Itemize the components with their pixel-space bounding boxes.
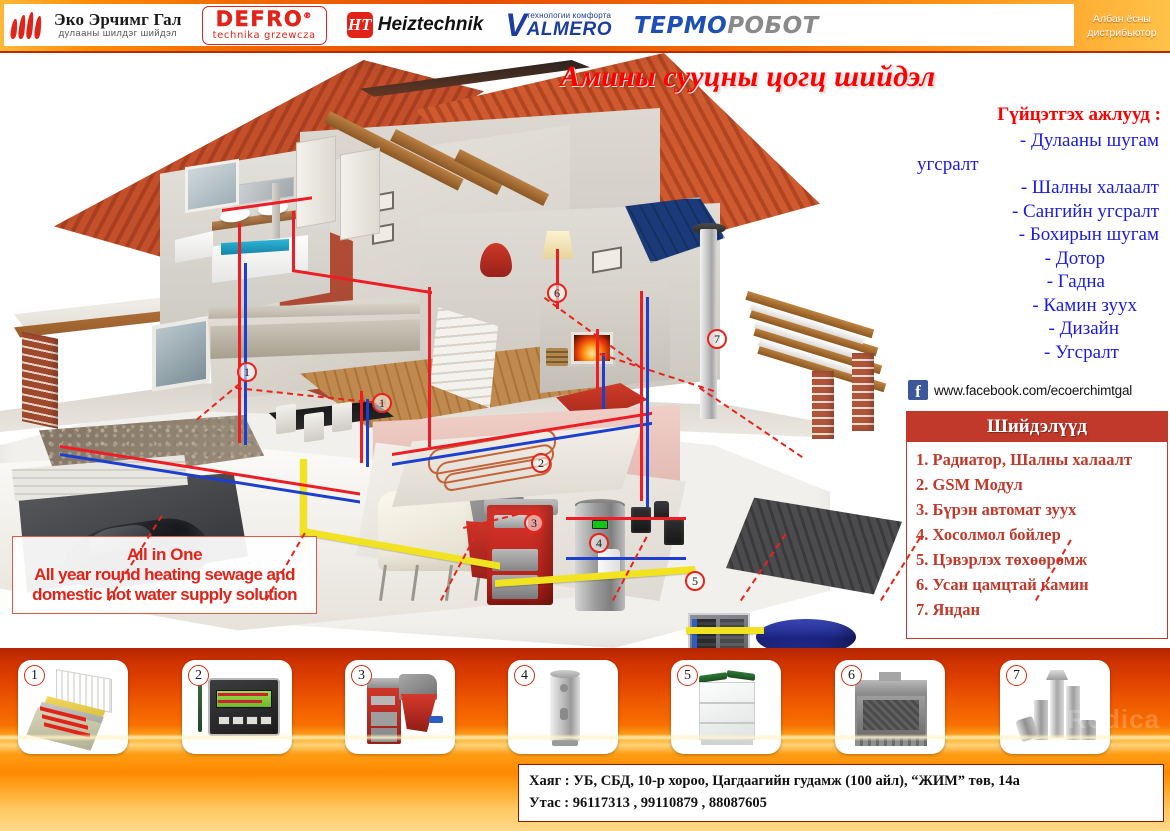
- dining-chair: [304, 412, 324, 443]
- heiztechnik-badge-icon: HT: [347, 12, 373, 38]
- termorobot-name-part1: ТЕРМО: [634, 13, 727, 39]
- eco-brand-name: Эко Эрчимг Гал: [54, 11, 182, 28]
- valmero-name: ALMERO: [527, 20, 612, 39]
- lower-window: [152, 316, 210, 391]
- works-item: - Дулааны шугам: [905, 129, 1167, 153]
- works-heading: Гүйцэтгэх ажлууд :: [905, 104, 1167, 126]
- product-card-number: 3: [351, 665, 372, 686]
- product-card-number: 5: [677, 665, 698, 686]
- solutions-item: 2. GSM Модул: [916, 472, 1167, 497]
- brick-column-left: [22, 331, 58, 429]
- poster-root: Эко Эрчимг Гал дулааны шилдэг шийдэл DEF…: [0, 0, 1170, 831]
- return-pipe-blue: [366, 399, 369, 467]
- product-card-number: 6: [841, 665, 862, 686]
- product-card-7[interactable]: 7: [1000, 660, 1110, 754]
- firewood-stack: [546, 348, 568, 366]
- pump-group-right: [664, 519, 684, 545]
- works-item: - Дизайн: [905, 317, 1167, 341]
- solutions-heading: Шийдэлүүд: [907, 412, 1167, 442]
- valmero-v-icon: V: [505, 12, 525, 39]
- supply-pipe-red: [238, 223, 241, 443]
- solutions-box: Шийдэлүүд 1. Радиатор, Шалны халаалт 2. …: [906, 411, 1168, 639]
- flame-icon: [10, 9, 48, 41]
- facebook-link[interactable]: f www.facebook.com/ecoerchimtgal: [908, 380, 1168, 400]
- works-item: - Шалны халаалт: [905, 176, 1167, 200]
- brand-eco-erchimt-gal: Эко Эрчимг Гал дулааны шилдэг шийдэл: [4, 4, 188, 46]
- house-callout-1-radiator: 1: [237, 362, 257, 382]
- supply-pipe-red: [640, 291, 643, 501]
- dining-chair: [332, 402, 352, 433]
- interior-door: [340, 147, 380, 240]
- brand-heiztechnik: HT Heiztechnik: [347, 12, 484, 38]
- all-in-one-line-2: All year round heating sewage and: [34, 565, 295, 585]
- riser-pipe: [272, 183, 280, 247]
- house-callout-2-gsm: 2: [531, 453, 551, 473]
- facebook-url[interactable]: www.facebook.com/ecoerchimtgal: [934, 383, 1132, 398]
- works-item: - Бохирын шугам: [905, 223, 1167, 247]
- distributor-line-1: Албан ёсны: [1093, 13, 1151, 26]
- interior-door: [296, 135, 336, 228]
- house-callout-3-boiler: 3: [524, 513, 544, 533]
- house-callout-4-buffer: 4: [589, 533, 609, 553]
- supply-pipe-red: [292, 211, 295, 271]
- house-callout-5-treatment: 5: [685, 571, 705, 591]
- sewer-pipe: [686, 627, 764, 634]
- heiztechnik-name: Heiztechnik: [378, 14, 484, 36]
- pergola-brick-post: [812, 371, 834, 439]
- house-callout-1-underfloor: 1: [372, 393, 392, 413]
- solutions-item: 3. Бүрэн автомат зуух: [916, 497, 1167, 522]
- works-item: - Дотор: [905, 247, 1167, 271]
- facebook-icon[interactable]: f: [908, 380, 928, 400]
- house-callout-7-chimney: 7: [707, 329, 727, 349]
- product-card-6[interactable]: 6: [835, 660, 945, 754]
- dining-chair: [276, 404, 296, 435]
- defro-name: DEFRO®: [213, 9, 316, 30]
- solutions-item: 7. Яндан: [916, 597, 1167, 622]
- product-card-number: 2: [188, 665, 209, 686]
- works-item: - Сангийн угсралт: [905, 200, 1167, 224]
- address-line-1: Хаяг : УБ, СБД, 10-р хороо, Цагдаагийн г…: [529, 771, 1153, 793]
- upper-window: [185, 159, 239, 214]
- defro-registered-icon: ®: [303, 11, 313, 20]
- supply-pipe-red: [428, 287, 431, 447]
- solutions-item: 1. Радиатор, Шалны халаалт: [916, 447, 1167, 472]
- product-card-1[interactable]: 1: [18, 660, 128, 754]
- return-pipe-blue: [602, 353, 605, 409]
- distributor-label: Албан ёсны дистрибьютор: [1074, 0, 1170, 53]
- brand-termorobot: ТЕРМОРОБОТ: [634, 12, 819, 39]
- product-cards: 1 2: [0, 648, 1170, 758]
- works-list: Гүйцэтгэх ажлууд : - Дулааны шугам угсра…: [905, 104, 1167, 364]
- solutions-item: 5. Цэвэрлэх төхөөрөмж: [916, 547, 1167, 572]
- brand-valmero: V технологии комфорта ALMERO: [505, 11, 612, 39]
- pump-group-left: [631, 507, 651, 533]
- return-pipe-blue: [244, 263, 247, 445]
- product-card-number: 7: [1006, 665, 1027, 686]
- page-title: Амины сууцны цогц шийдэл: [560, 60, 1030, 94]
- return-pipe-blue: [566, 557, 686, 560]
- address-line-2: Утас : 96117313 , 99110879 , 88087605: [529, 793, 1153, 815]
- product-card-4[interactable]: 4: [508, 660, 618, 754]
- defro-tagline: technika grzewcza: [213, 30, 316, 41]
- product-card-2[interactable]: 2: [182, 660, 292, 754]
- all-in-one-line-3: domestic hot water supply solution: [32, 585, 297, 605]
- solutions-item: 4. Хосолмол бойлер: [916, 522, 1167, 547]
- works-item: - Гадна: [905, 270, 1167, 294]
- product-card-number: 4: [514, 665, 535, 686]
- solutions-item: 6. Усан цамцтай камин: [916, 572, 1167, 597]
- all-in-one-box: All in One All year round heating sewage…: [12, 536, 317, 614]
- address-box: Хаяг : УБ, СБД, 10-р хороо, Цагдаагийн г…: [518, 764, 1164, 822]
- termorobot-name-part2: РОБОТ: [727, 13, 819, 39]
- works-item: угсралт: [905, 153, 1167, 177]
- product-card-3[interactable]: 3: [345, 660, 455, 754]
- eco-brand-tagline: дулааны шилдэг шийдэл: [54, 29, 182, 39]
- product-card-5[interactable]: 5: [671, 660, 781, 754]
- header-banner: Эко Эрчимг Гал дулааны шилдэг шийдэл DEF…: [0, 0, 1170, 53]
- supply-pipe-red: [566, 517, 686, 520]
- brand-defro: DEFRO® technika grzewcza: [202, 6, 327, 45]
- tank-legs: [382, 565, 482, 601]
- works-item: - Угсралт: [905, 341, 1167, 365]
- works-item: - Камин зуух: [905, 294, 1167, 318]
- pergola-brick-post: [852, 353, 874, 431]
- buffer-tank-display: [592, 520, 608, 529]
- distributor-line-2: дистрибьютор: [1087, 27, 1156, 40]
- return-pipe-blue: [646, 297, 649, 507]
- brand-logo-row: Эко Эрчимг Гал дулааны шилдэг шийдэл DEF…: [4, 4, 1074, 46]
- product-card-number: 1: [24, 665, 45, 686]
- house-callout-6-fireplace: 6: [547, 283, 567, 303]
